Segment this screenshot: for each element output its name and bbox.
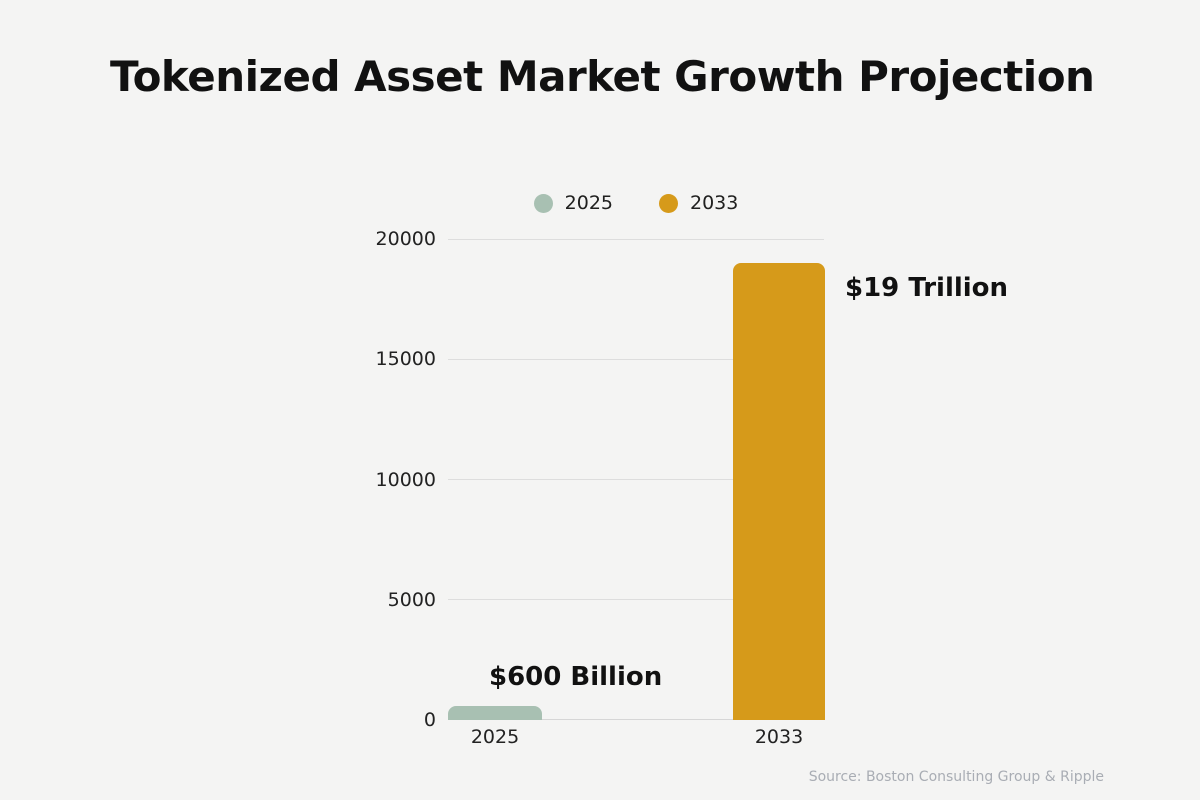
x-tick-label-2025: 2025 <box>471 726 519 748</box>
legend-label-2025: 2025 <box>565 192 613 214</box>
value-annotation-2033: $19 Trillion <box>845 273 1008 303</box>
bar-2025[interactable] <box>448 706 542 720</box>
legend-item-2025[interactable]: 2025 <box>534 192 613 214</box>
legend-circle-icon-2033 <box>659 194 678 213</box>
y-tick-label: 20000 <box>336 228 436 250</box>
y-tick-label: 15000 <box>336 348 436 370</box>
page-title: Tokenized Asset Market Growth Projection <box>110 52 1094 101</box>
chart-legend: 2025 2033 <box>448 190 824 216</box>
y-tick-label: 5000 <box>336 589 436 611</box>
y-tick-label: 10000 <box>336 469 436 491</box>
source-note: Source: Boston Consulting Group & Ripple <box>809 769 1104 785</box>
plot-area <box>448 239 824 720</box>
legend-circle-icon-2025 <box>534 194 553 213</box>
y-tick-label: 0 <box>336 709 436 731</box>
legend-label-2033: 2033 <box>690 192 738 214</box>
x-tick-label-2033: 2033 <box>755 726 803 748</box>
gridline-20000 <box>448 239 824 240</box>
x-axis: 2025 2033 <box>448 726 824 752</box>
value-annotation-2025: $600 Billion <box>489 662 662 692</box>
bar-2033[interactable] <box>733 263 825 720</box>
legend-item-2033[interactable]: 2033 <box>659 192 738 214</box>
y-axis: 20000 15000 10000 5000 0 <box>328 239 436 720</box>
